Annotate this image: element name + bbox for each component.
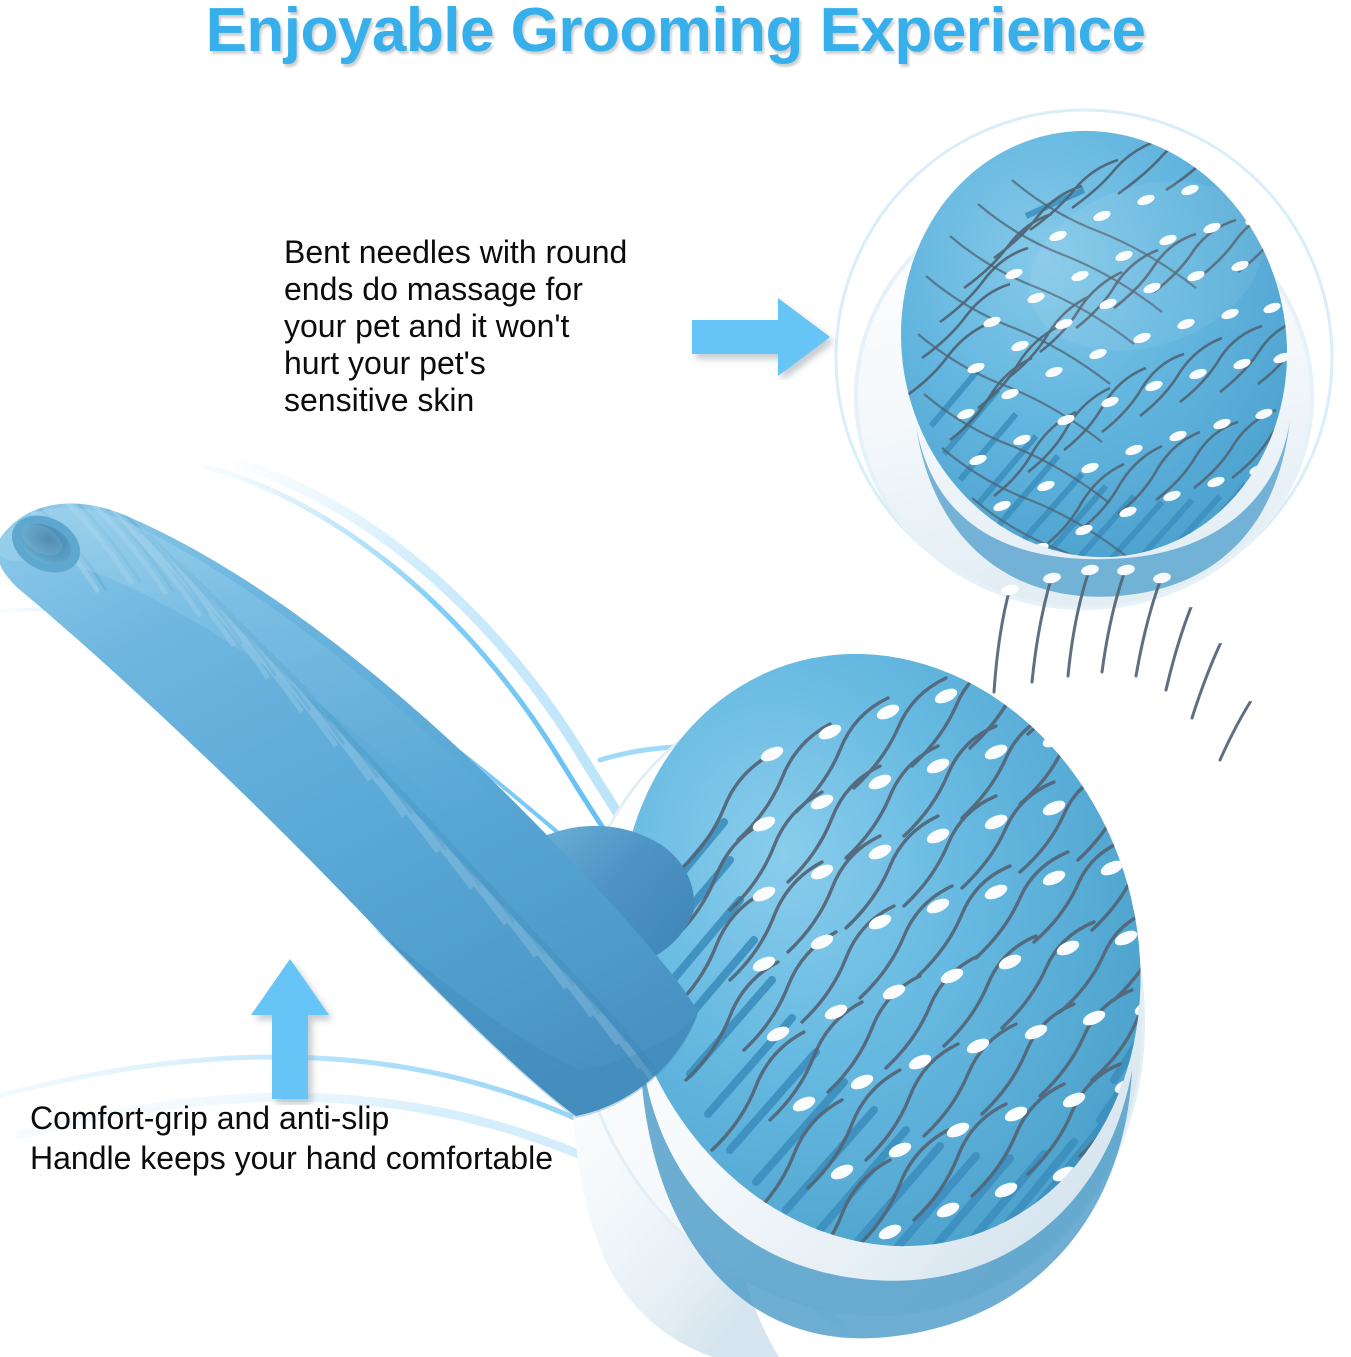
product-infographic-page: Enjoyable Grooming Experience	[0, 0, 1351, 1357]
callout-line: ends do massage for	[284, 271, 684, 308]
product-brush-main	[0, 440, 1351, 1357]
arrow-right-icon	[688, 296, 838, 380]
page-title: Enjoyable Grooming Experience	[0, 0, 1351, 66]
callout-line: hurt your pet's	[284, 345, 684, 382]
brush-handle[interactable]	[0, 484, 698, 1118]
callout-bent-needles: Bent needles with round ends do massage …	[284, 234, 684, 419]
callout-line: Handle keeps your hand comfortable	[30, 1138, 650, 1178]
arrow-up-icon	[248, 953, 338, 1105]
callout-line: Bent needles with round	[284, 234, 684, 271]
callout-line: your pet and it won't	[284, 308, 684, 345]
callout-line: sensitive skin	[284, 382, 684, 419]
callout-comfort-grip: Comfort-grip and anti-slip Handle keeps …	[30, 1098, 650, 1178]
callout-line: Comfort-grip and anti-slip	[30, 1098, 650, 1138]
